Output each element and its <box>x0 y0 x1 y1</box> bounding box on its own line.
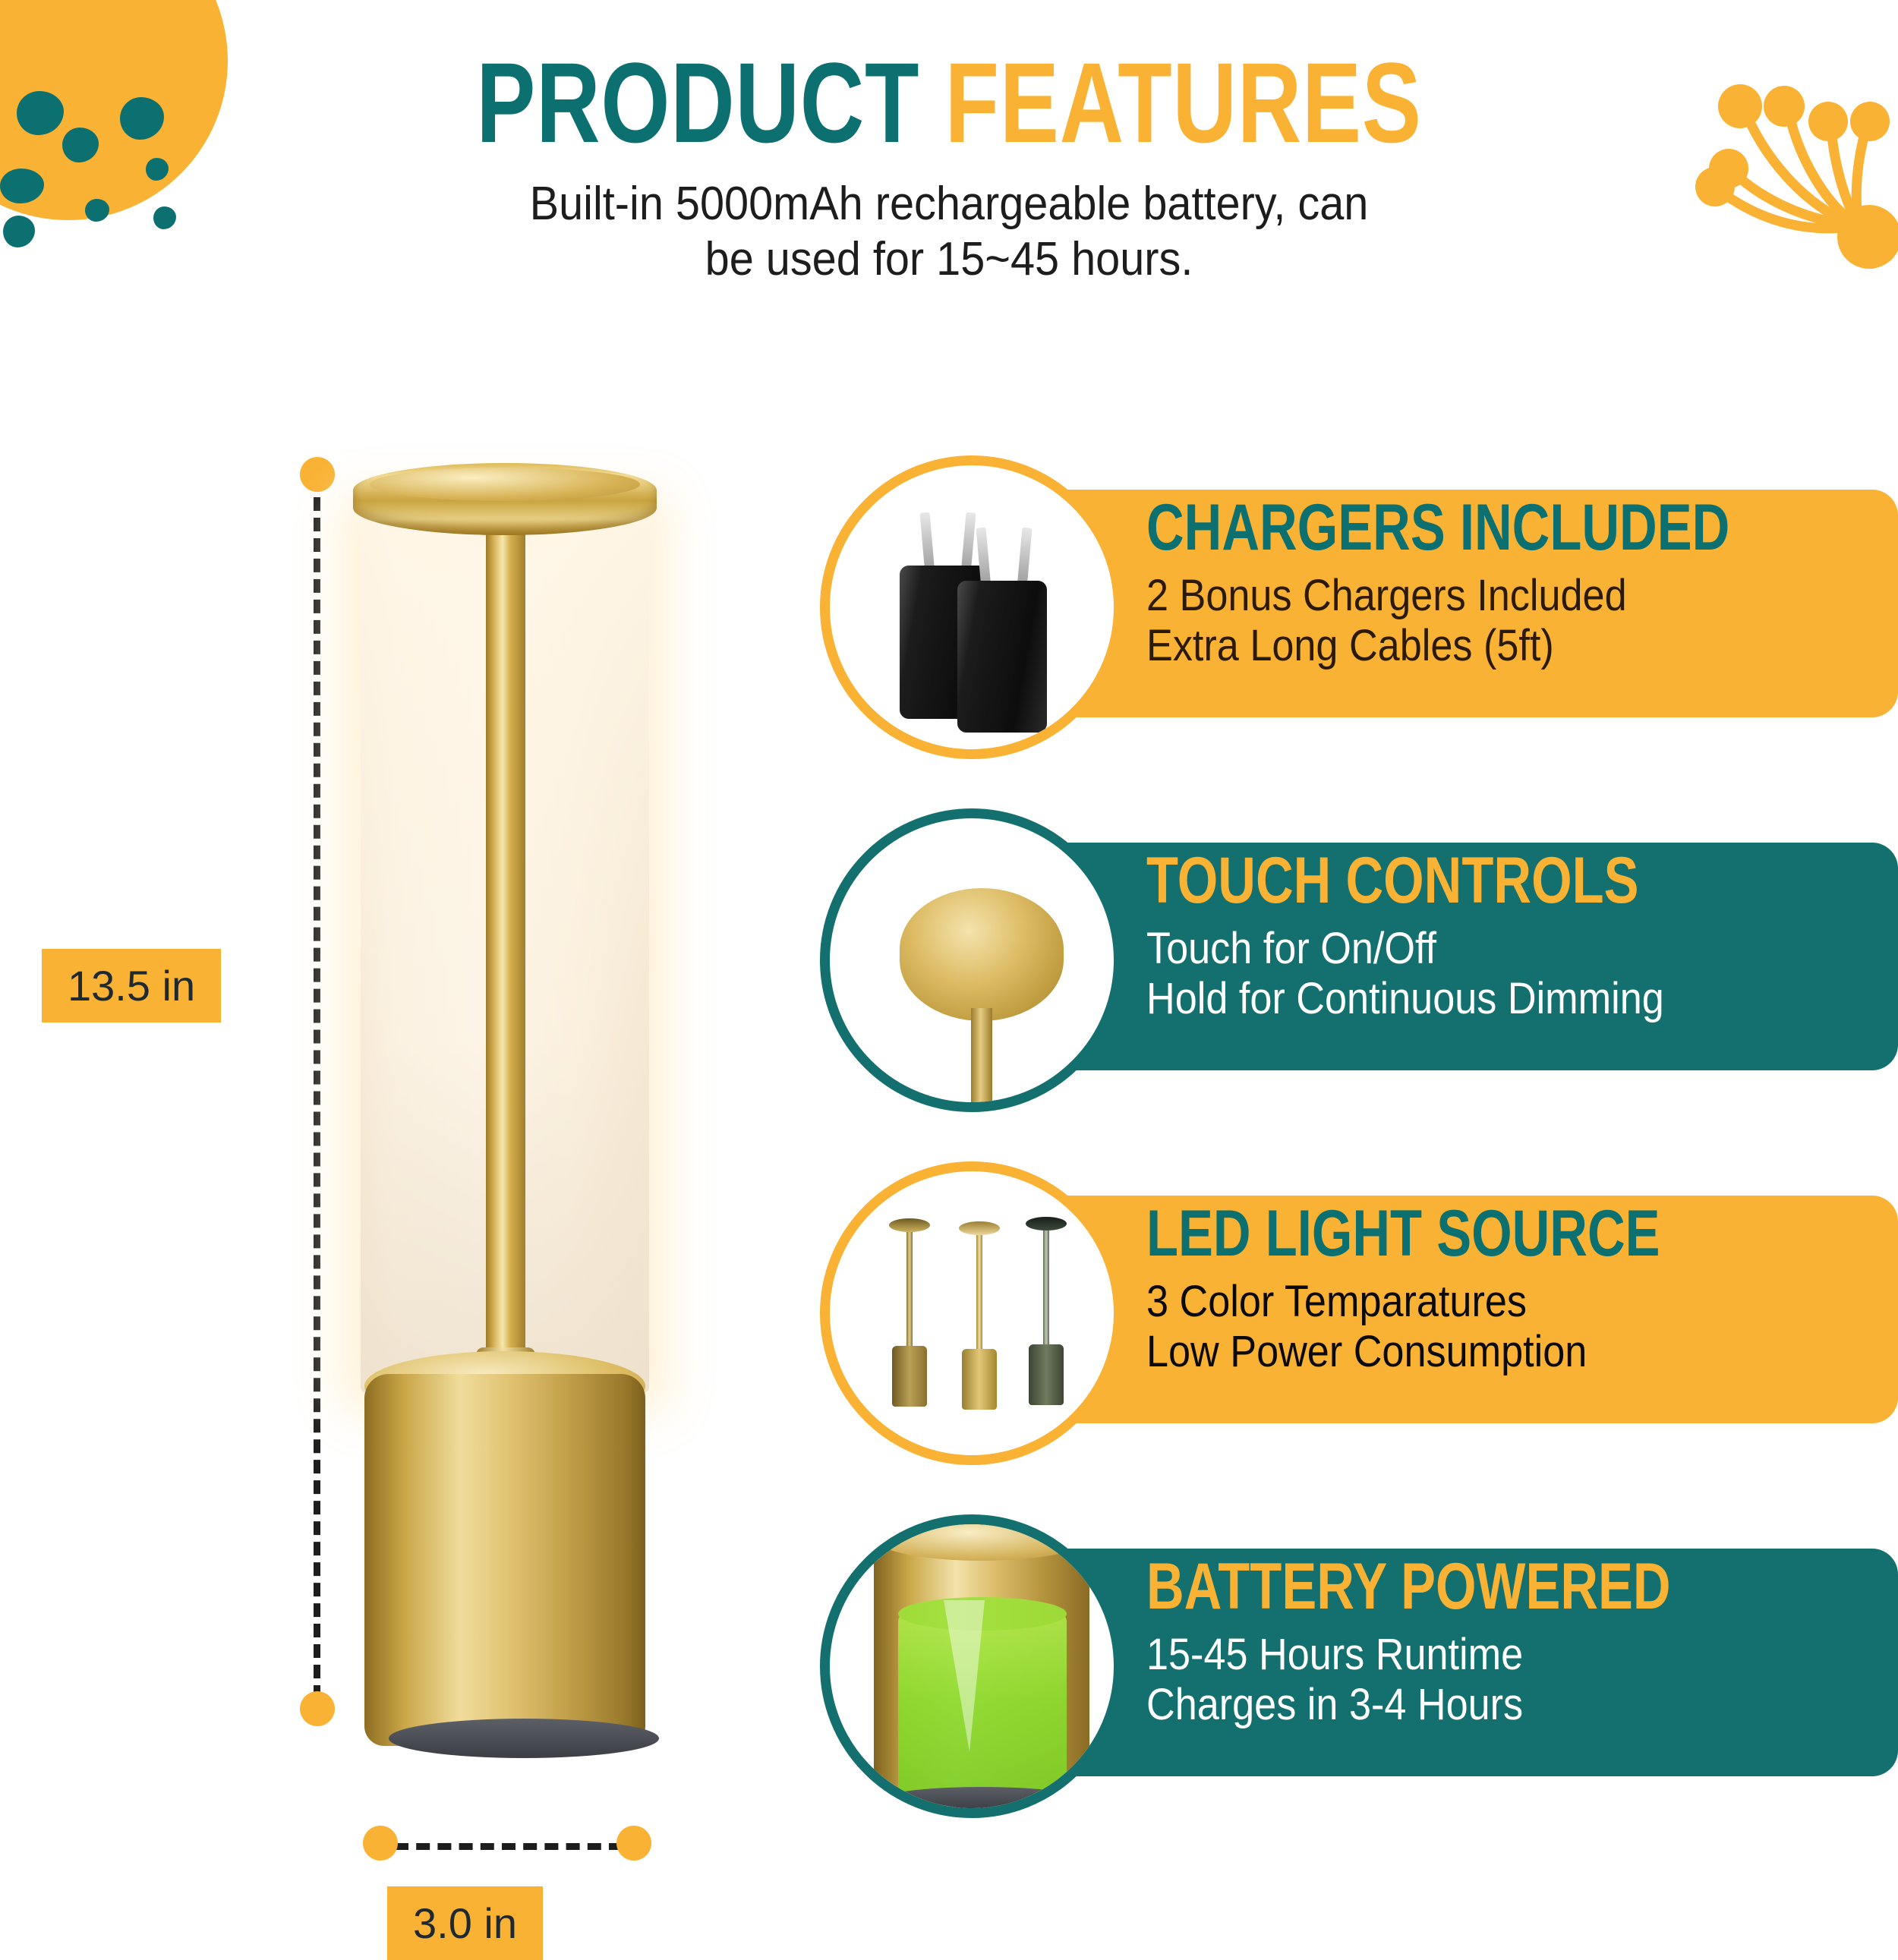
card-heading: TOUCH CONTROLS <box>1146 848 1737 913</box>
feature-card-led-light-source[interactable]: LED LIGHT SOURCE 3 Color Temparatures Lo… <box>820 1161 1898 1469</box>
card-text: LED LIGHT SOURCE 3 Color Temparatures Lo… <box>1146 1201 1884 1377</box>
card-heading: BATTERY POWERED <box>1146 1554 1737 1619</box>
card-line: Touch for On/Off <box>1146 924 1811 974</box>
feature-card-battery-powered[interactable]: BATTERY POWERED 15-45 Hours Runtime Char… <box>820 1514 1898 1822</box>
dimension-endpoint-dot <box>363 1826 398 1861</box>
card-line: 2 Bonus Chargers Included <box>1146 571 1811 621</box>
title-part-product: PRODUCT <box>476 39 919 166</box>
feature-card-touch-controls[interactable]: TOUCH CONTROLS Touch for On/Off Hold for… <box>820 808 1898 1116</box>
feature-icon-ring <box>820 1514 1124 1818</box>
feature-list: CHARGERS INCLUDED 2 Bonus Chargers Inclu… <box>820 455 1898 1867</box>
card-line: Extra Long Cables (5ft) <box>1146 621 1811 671</box>
lamp-top-face <box>370 468 640 501</box>
card-text: TOUCH CONTROLS Touch for On/Off Hold for… <box>1146 848 1884 1024</box>
card-heading: CHARGERS INCLUDED <box>1146 495 1737 560</box>
feature-icon-ring <box>820 808 1124 1112</box>
lamp-top-disc <box>353 463 657 535</box>
card-text: BATTERY POWERED 15-45 Hours Runtime Char… <box>1146 1554 1884 1730</box>
three-lamps-icon <box>830 1171 1114 1455</box>
card-line: Low Power Consumption <box>1146 1327 1811 1377</box>
product-dimension-panel: 13.5 in 3.0 in <box>0 425 774 1898</box>
card-line: Charges in 3-4 Hours <box>1146 1680 1811 1730</box>
header: PRODUCT FEATURES Built-in 5000mAh rechar… <box>0 46 1898 287</box>
battery-icon <box>830 1524 1114 1808</box>
lamp-product-image <box>345 455 664 1746</box>
card-line: 15-45 Hours Runtime <box>1146 1630 1811 1680</box>
lamp-base-foot <box>389 1719 659 1758</box>
page-title: PRODUCT FEATURES <box>209 46 1689 159</box>
dimension-endpoint-dot <box>300 1691 335 1726</box>
card-text: CHARGERS INCLUDED 2 Bonus Chargers Inclu… <box>1146 495 1884 671</box>
height-dimension-line <box>314 477 320 1699</box>
height-badge: 13.5 in <box>42 949 221 1023</box>
title-part-features: FEATURES <box>945 39 1422 166</box>
usb-wall-charger-icon <box>830 465 1114 749</box>
lamp-base <box>364 1374 645 1746</box>
card-heading: LED LIGHT SOURCE <box>1146 1201 1737 1266</box>
touch-knob-icon <box>830 818 1114 1102</box>
card-line: Hold for Continuous Dimming <box>1146 974 1811 1024</box>
dimension-endpoint-dot <box>300 457 335 492</box>
feature-icon-ring <box>820 1161 1124 1465</box>
width-dimension-line <box>395 1843 623 1850</box>
feature-card-chargers-included[interactable]: CHARGERS INCLUDED 2 Bonus Chargers Inclu… <box>820 455 1898 763</box>
dimension-endpoint-dot <box>616 1826 651 1861</box>
card-line: 3 Color Temparatures <box>1146 1277 1811 1327</box>
page-subtitle: Built-in 5000mAh rechargeable battery, c… <box>67 176 1832 287</box>
feature-icon-ring <box>820 455 1124 759</box>
